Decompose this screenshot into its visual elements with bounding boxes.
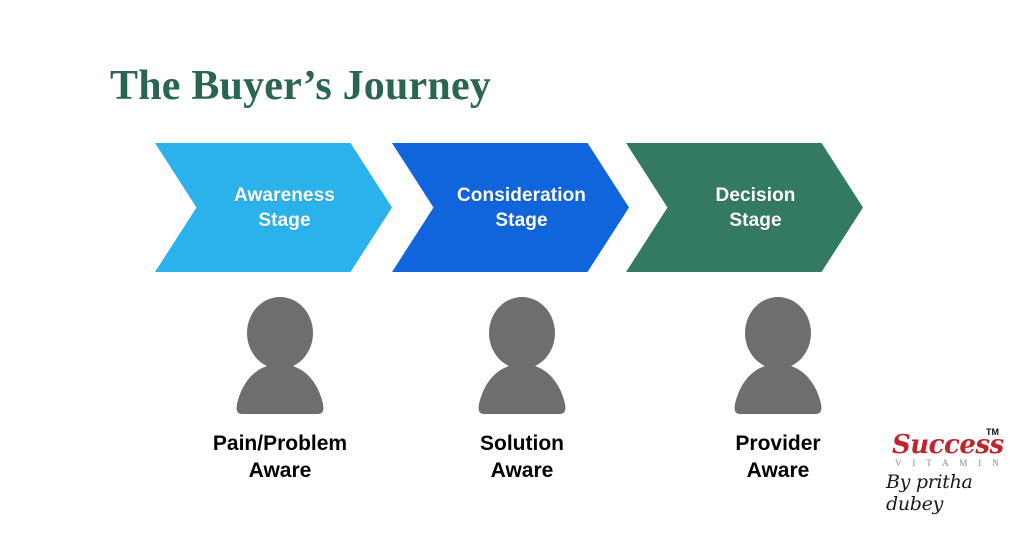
stage-label-decision: Decision Stage — [694, 183, 796, 233]
person-icon — [217, 296, 343, 416]
trademark-mark: TM — [986, 428, 999, 437]
stage-label-line2: Stage — [495, 210, 547, 231]
stage-label-line1: Decision — [716, 185, 796, 206]
person-icon — [715, 296, 841, 416]
slide-canvas: The Buyer’s Journey Awareness Stage Cons… — [0, 0, 1024, 536]
stage-chevron-awareness[interactable]: Awareness Stage — [155, 143, 392, 272]
persona-provider-aware: Provider Aware — [678, 296, 878, 484]
stage-label-awareness: Awareness Stage — [212, 183, 335, 233]
stage-chevron-decision[interactable]: Decision Stage — [626, 143, 863, 272]
persona-pain-problem-aware: Pain/Problem Aware — [180, 296, 380, 484]
stage-label-consideration: Consideration Stage — [435, 183, 586, 233]
stage-label-line2: Stage — [258, 210, 310, 231]
persona-label: Provider Aware — [678, 430, 878, 484]
brand-byline: By pritha dubey — [886, 471, 1009, 515]
stage-label-line1: Consideration — [457, 185, 586, 206]
brand-subtitle: V I T A M I N — [895, 458, 1003, 468]
page-title: The Buyer’s Journey — [110, 62, 491, 110]
persona-label: Solution Aware — [422, 430, 622, 484]
brand-logo: Success TM V I T A M I N By pritha dubey — [884, 425, 1009, 505]
stage-chevron-consideration[interactable]: Consideration Stage — [392, 143, 629, 272]
buyer-journey-stages: Awareness Stage Consideration Stage Deci… — [0, 143, 1024, 272]
persona-label: Pain/Problem Aware — [180, 430, 380, 484]
person-icon — [459, 296, 585, 416]
persona-solution-aware: Solution Aware — [422, 296, 622, 484]
stage-label-line1: Awareness — [234, 185, 335, 206]
stage-label-line2: Stage — [729, 210, 781, 231]
